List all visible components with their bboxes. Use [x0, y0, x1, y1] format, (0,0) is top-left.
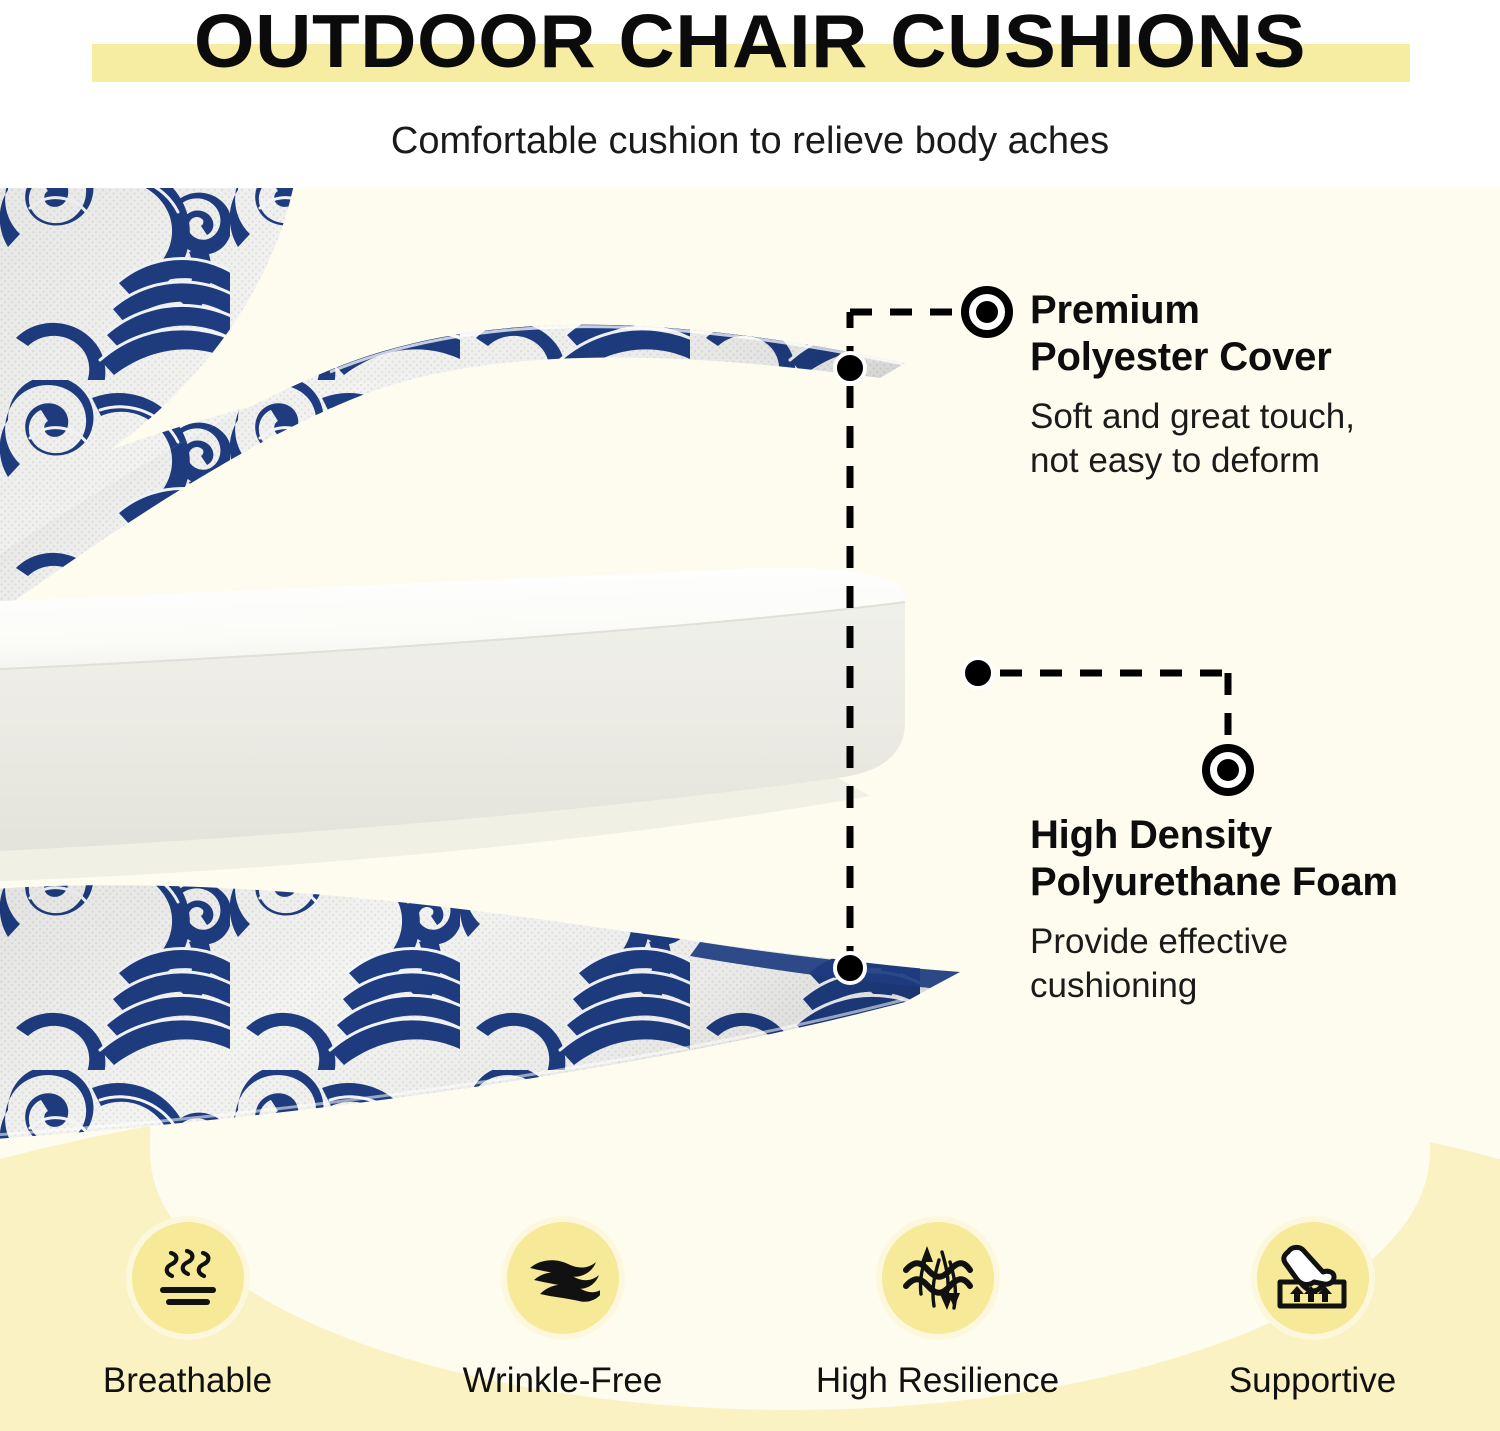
- page-subtitle: Comfortable cushion to relieve body ache…: [0, 118, 1500, 164]
- infographic-page: OUTDOOR CHAIR CUSHIONS Comfortable cushi…: [0, 0, 1500, 1431]
- callout-title: High Density Polyurethane Foam: [1030, 812, 1500, 906]
- callout-desc-line-1: Provide effective: [1030, 922, 1288, 961]
- callout-description: Soft and great touch, not easy to deform: [1030, 395, 1500, 483]
- cushion-illustration: [0, 150, 1060, 1170]
- feature-icon-circle: [132, 1222, 244, 1334]
- feature-supportive: Supportive: [1125, 1222, 1500, 1401]
- feature-label: High Resilience: [816, 1361, 1059, 1401]
- callout-premium-polyester-cover: Premium Polyester Cover Soft and great t…: [1030, 287, 1500, 483]
- feature-high-resilience: High Resilience: [750, 1222, 1125, 1401]
- feature-icon-circle: [507, 1222, 619, 1334]
- feature-label: Supportive: [1229, 1361, 1396, 1401]
- callout-title-line-2: Polyurethane Foam: [1030, 860, 1398, 904]
- feature-breathable: Breathable: [0, 1222, 375, 1401]
- callout-desc-line-1: Soft and great touch,: [1030, 397, 1355, 436]
- feature-icon-circle: [882, 1222, 994, 1334]
- feature-icon-circle: [1257, 1222, 1369, 1334]
- callout-title-line-1: Premium: [1030, 288, 1200, 332]
- callout-desc-line-2: cushioning: [1030, 966, 1197, 1005]
- callout-desc-line-2: not easy to deform: [1030, 441, 1320, 480]
- feature-wrinkle-free: Wrinkle-Free: [375, 1222, 750, 1401]
- feature-row: Breathable Wrinkle-Free: [0, 1222, 1500, 1422]
- feature-label: Wrinkle-Free: [463, 1361, 663, 1401]
- steam-lines-icon: [153, 1245, 223, 1311]
- callout-description: Provide effective cushioning: [1030, 920, 1500, 1008]
- flowing-waves-icon: [526, 1252, 600, 1304]
- callout-high-density-polyurethane-foam: High Density Polyurethane Foam Provide e…: [1030, 812, 1500, 1008]
- callout-title-line-2: Polyester Cover: [1030, 335, 1332, 379]
- feature-label: Breathable: [103, 1361, 272, 1401]
- bounce-arrows-icon: [901, 1242, 975, 1314]
- callout-title-line-1: High Density: [1030, 813, 1272, 857]
- marker-ring-foam: [1206, 748, 1250, 792]
- cushion-cover-top: [0, 150, 905, 618]
- callout-title: Premium Polyester Cover: [1030, 287, 1500, 381]
- hand-press-foam-icon: [1274, 1242, 1352, 1314]
- foam-core-block: [0, 568, 905, 882]
- cushion-cover-bottom: [0, 885, 960, 1140]
- page-title: OUTDOOR CHAIR CUSHIONS: [0, 0, 1500, 84]
